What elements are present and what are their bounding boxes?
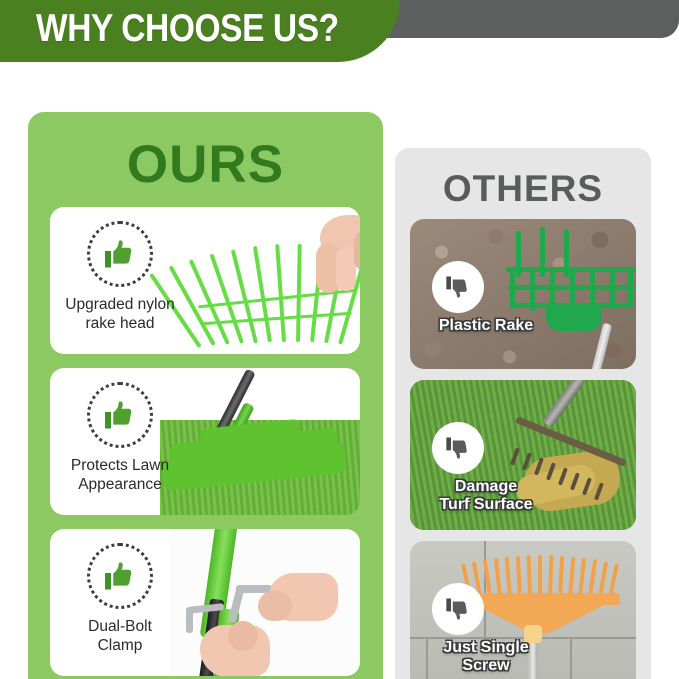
others-card-3-label: Just Single Screw <box>416 639 556 676</box>
ours-card-1-label: Upgraded nylon rake head <box>54 296 186 333</box>
infographic-canvas: WHY CHOOSE US? OURS <box>0 0 679 679</box>
others-card-3-label-line2: Screw <box>462 657 509 674</box>
ours-card-2-label-line2: Appearance <box>78 476 162 493</box>
thumbs-down-icon <box>444 273 472 301</box>
ours-card-upgraded-nylon-rake-head: Upgraded nylon rake head <box>50 207 360 354</box>
others-panel-title: OTHERS <box>395 168 651 210</box>
ours-card-dual-bolt-clamp: Dual-Bolt Clamp <box>50 529 360 676</box>
ours-card-1-label-line2: rake head <box>86 315 155 332</box>
others-card-damage-turf-surface: Damage Turf Surface <box>410 380 636 530</box>
ours-card-3-label-line1: Dual-Bolt <box>88 618 152 635</box>
thumbs-up-icon <box>102 397 138 433</box>
thumbs-down-badge <box>432 583 484 635</box>
ours-panel-title: OURS <box>28 134 383 195</box>
others-card-2-label-line2: Turf Surface <box>439 496 532 513</box>
thumbs-up-icon <box>102 558 138 594</box>
header-gray-banner-cap <box>612 0 679 38</box>
others-panel: OTHERS <box>395 148 651 679</box>
ours-panel: OURS <box>28 112 383 679</box>
ours-card-2-caption-area: Protects Lawn Appearance <box>50 368 190 515</box>
thumbs-up-badge <box>87 543 153 609</box>
thumbs-down-badge <box>432 261 484 313</box>
ours-card-1-caption-area: Upgraded nylon rake head <box>50 207 190 354</box>
ours-card-3-label: Dual-Bolt Clamp <box>54 618 186 655</box>
ours-card-3-caption-area: Dual-Bolt Clamp <box>50 529 190 676</box>
ours-card-protects-lawn-appearance: Protects Lawn Appearance <box>50 368 360 515</box>
others-card-1-label-line1: Plastic Rake <box>439 317 533 334</box>
ours-card-2-label: Protects Lawn Appearance <box>54 457 186 494</box>
thumbs-down-icon <box>444 434 472 462</box>
thumbs-up-badge <box>87 382 153 448</box>
thumbs-up-icon <box>102 236 138 272</box>
others-card-just-single-screw: Just Single Screw <box>410 541 636 679</box>
others-card-plastic-rake: Plastic Rake <box>410 219 636 369</box>
thumbs-down-badge <box>432 422 484 474</box>
others-card-2-label-line1: Damage <box>455 478 517 495</box>
others-card-1-label: Plastic Rake <box>416 317 556 335</box>
ours-card-1-label-line1: Upgraded nylon <box>65 296 174 313</box>
thumbs-up-badge <box>87 221 153 287</box>
thumbs-down-icon <box>444 595 472 623</box>
ours-card-3-label-line2: Clamp <box>98 637 143 654</box>
others-card-3-label-line1: Just Single <box>443 639 528 656</box>
ours-card-2-label-line1: Protects Lawn <box>71 457 169 474</box>
page-title: WHY CHOOSE US? <box>36 7 339 51</box>
others-card-2-label: Damage Turf Surface <box>416 478 556 515</box>
